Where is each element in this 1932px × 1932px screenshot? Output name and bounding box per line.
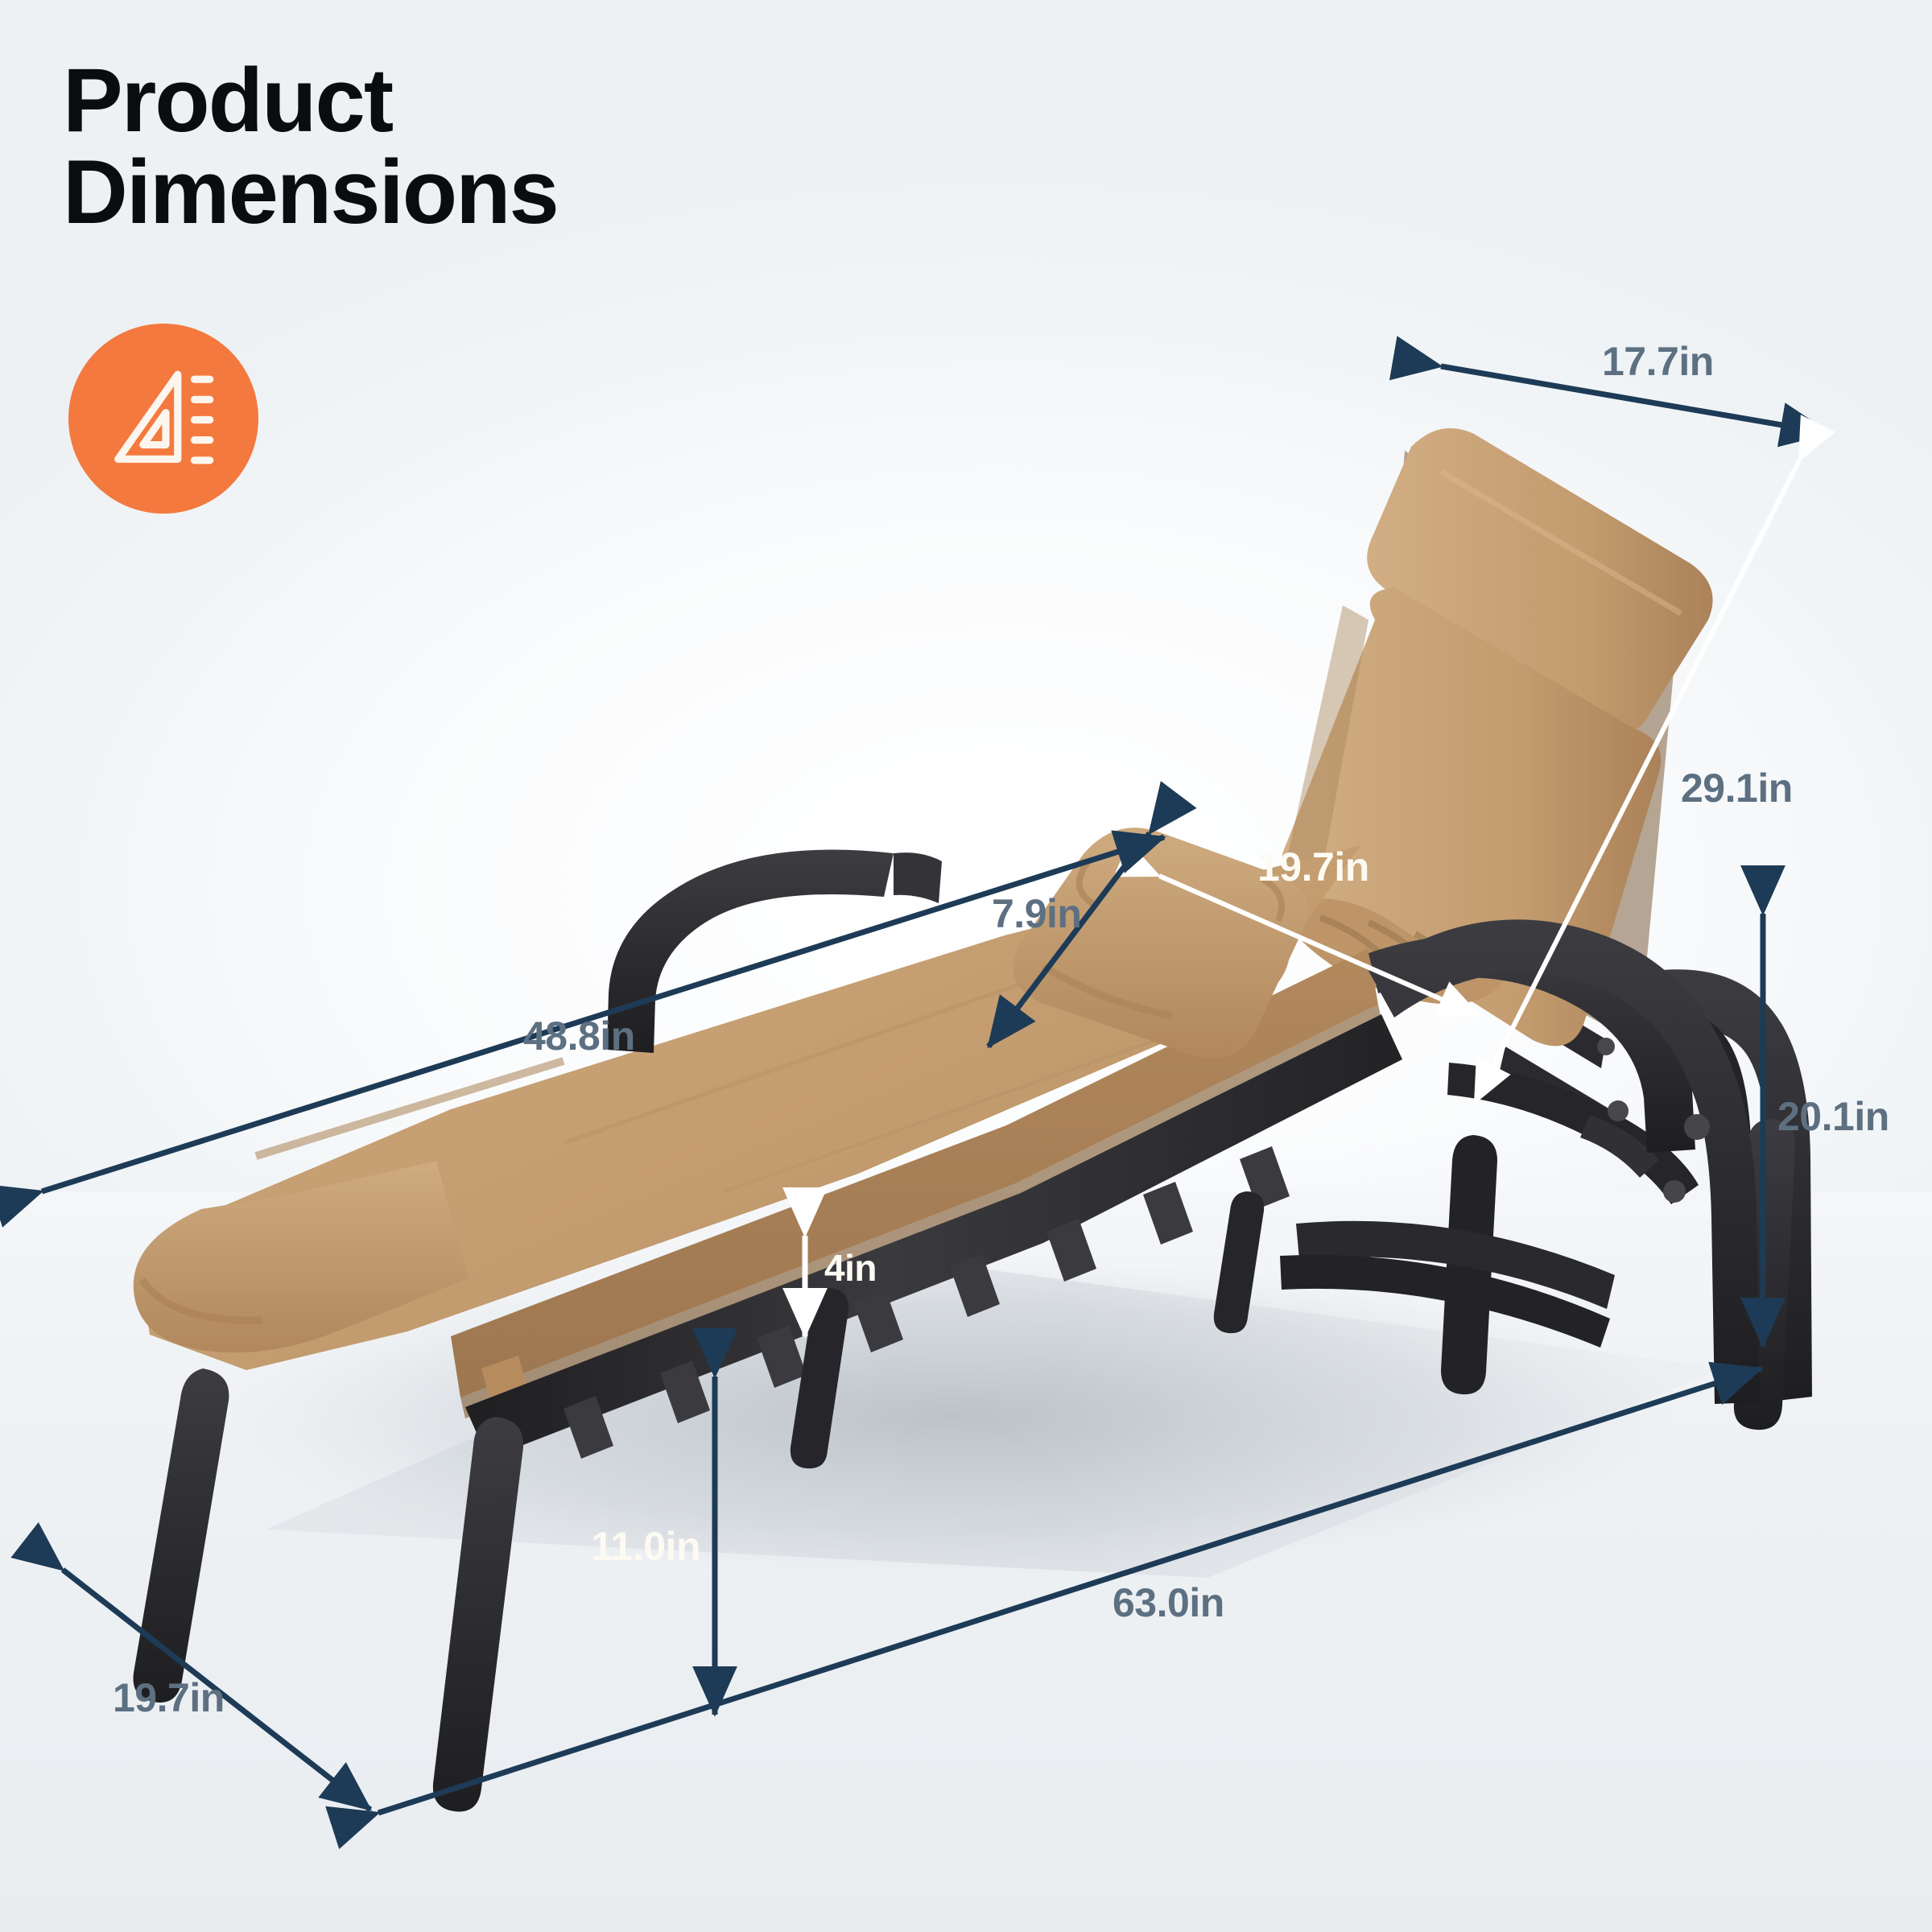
dim-label-seat-width: 19.7in xyxy=(1257,844,1369,890)
triangle-ruler-icon xyxy=(104,359,223,478)
dim-label-overall-width: 19.7in xyxy=(113,1674,225,1721)
dim-label-cushion-thickness: 4in xyxy=(824,1246,877,1290)
dim-label-overall-length: 63.0in xyxy=(1113,1579,1224,1626)
dim-label-pillow-depth: 7.9in xyxy=(992,890,1081,937)
dim-label-cushion-length: 48.8in xyxy=(523,1013,635,1059)
product-illustration xyxy=(0,0,1932,1932)
page-title: Product Dimensions xyxy=(63,55,558,238)
infographic-canvas: Product Dimensions 17.7in 29.1in 19.7in … xyxy=(0,0,1932,1932)
dim-label-frame-height: 20.1in xyxy=(1777,1093,1889,1140)
ruler-badge xyxy=(68,324,258,514)
dim-label-headrest-width: 17.7in xyxy=(1602,338,1714,385)
dim-label-seat-height: 11.0in xyxy=(591,1523,700,1570)
dim-label-backrest-height: 29.1in xyxy=(1681,765,1793,811)
